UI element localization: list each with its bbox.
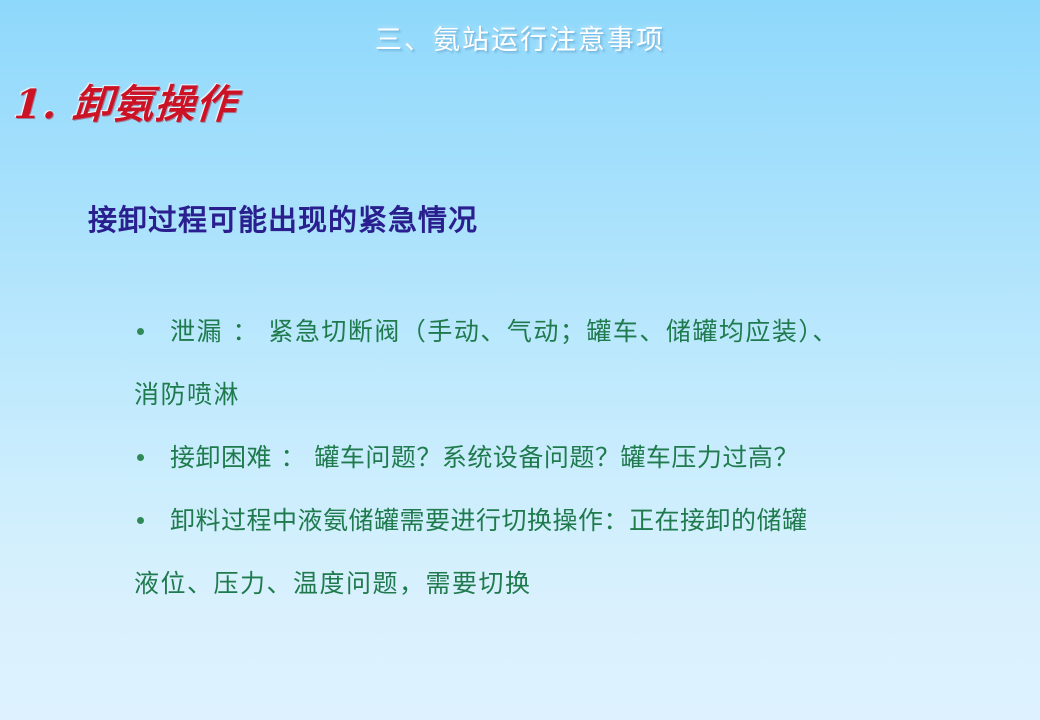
slide-canvas: 三、氨站运行注意事项 1. 卸氨操作 接卸过程可能出现的紧急情况 泄漏 ： 紧急… — [0, 0, 1040, 720]
list-item: 卸料过程中液氨储罐需要进行切换操作：正在接卸的储罐 — [132, 489, 1012, 552]
list-item-continuation: 液位、压力、温度问题，需要切换 — [132, 552, 1012, 615]
sub-heading: 接卸过程可能出现的紧急情况 — [88, 200, 478, 240]
bullet-dot-icon — [137, 454, 144, 461]
list-item-text: 卸料过程中液氨储罐需要进行切换操作：正在接卸的储罐 — [170, 506, 808, 535]
body-content: 泄漏 ： 紧急切断阀（手动、气动；罐车、储罐均应装）、 消防喷淋 接卸困难 ： … — [132, 300, 1012, 615]
bullet-dot-icon — [137, 517, 144, 524]
section-heading: 1. 卸氨操作 — [12, 80, 238, 130]
list-item-continuation: 消防喷淋 — [132, 363, 1012, 426]
page-title: 三、氨站运行注意事项 — [0, 24, 1040, 58]
list-item-text: 消防喷淋 — [134, 380, 240, 409]
bullet-dot-icon — [137, 328, 144, 335]
list-item-text: 接卸困难 ： 罐车问题？系统设备问题？罐车压力过高？ — [170, 443, 799, 472]
list-item: 接卸困难 ： 罐车问题？系统设备问题？罐车压力过高？ — [132, 426, 1012, 489]
list-item-text: 液位、压力、温度问题，需要切换 — [134, 569, 532, 598]
list-item-text: 泄漏 ： 紧急切断阀（手动、气动；罐车、储罐均应装）、 — [170, 317, 839, 346]
list-item: 泄漏 ： 紧急切断阀（手动、气动；罐车、储罐均应装）、 — [132, 300, 1012, 363]
